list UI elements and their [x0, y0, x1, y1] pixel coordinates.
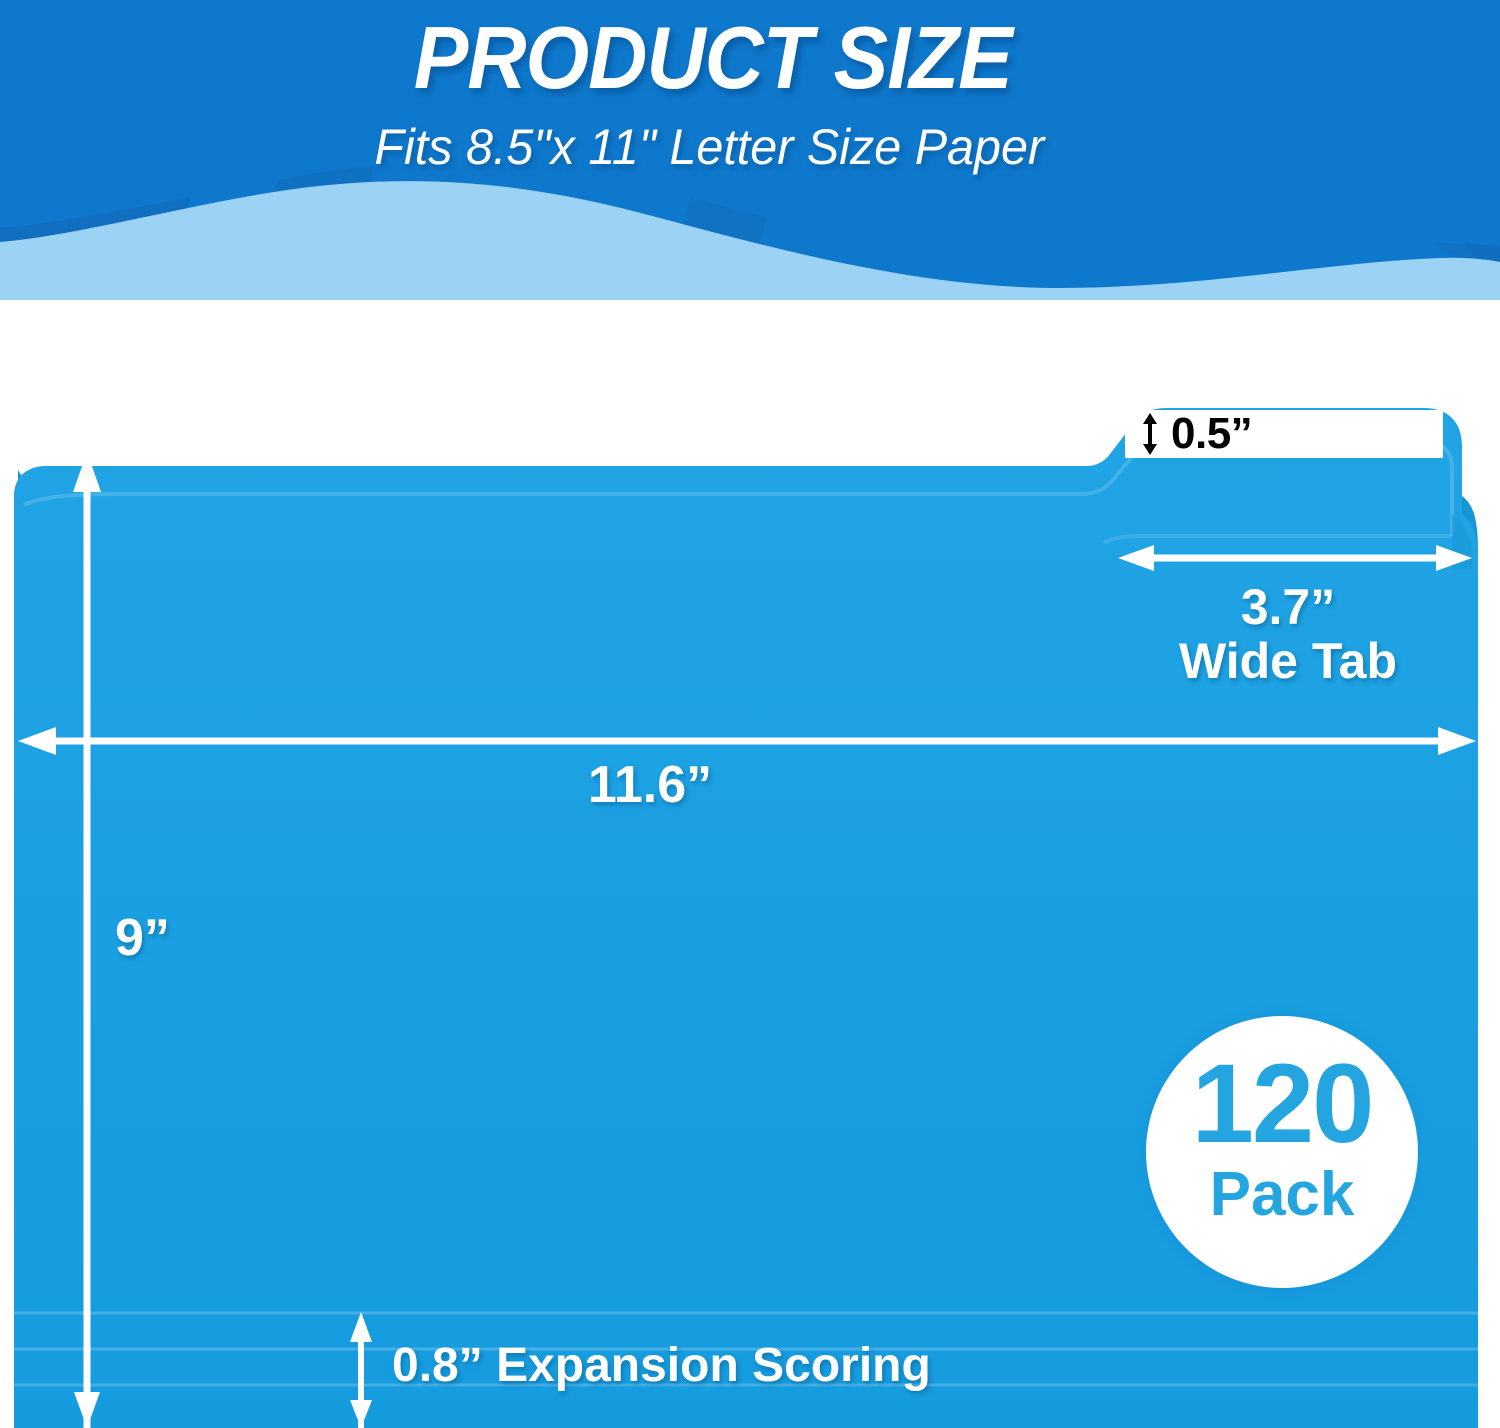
page-subtitle: Fits 8.5"x 11" Letter Size Paper — [23, 122, 1478, 172]
label-tab-height: 0.5” — [1171, 412, 1252, 456]
tab-height-callout: 0.5” — [1125, 410, 1443, 458]
label-expansion-scoring: 0.8” Expansion Scoring — [392, 1338, 931, 1393]
label-tab-width-caption: Wide Tab — [1179, 633, 1397, 689]
product-size-infographic: PRODUCT SIZE Fits 8.5"x 11" Letter Size … — [0, 0, 1500, 1428]
pack-count-value: 120 — [1146, 1048, 1418, 1160]
vertical-double-arrow-icon — [1139, 413, 1161, 455]
pack-quantity-badge: 120 Pack — [1146, 1016, 1418, 1288]
label-tab-width-group: 3.7” Wide Tab — [1093, 580, 1483, 688]
header-banner: PRODUCT SIZE Fits 8.5"x 11" Letter Size … — [0, 0, 1500, 300]
pack-count-unit: Pack — [1146, 1164, 1418, 1226]
folder-illustration: 120 Pack — [0, 300, 1500, 1428]
label-folder-height: 9” — [115, 908, 170, 968]
page-title: PRODUCT SIZE — [53, 14, 1448, 102]
label-tab-width-value: 3.7” — [1241, 579, 1336, 635]
label-folder-width: 11.6” — [0, 755, 1500, 815]
